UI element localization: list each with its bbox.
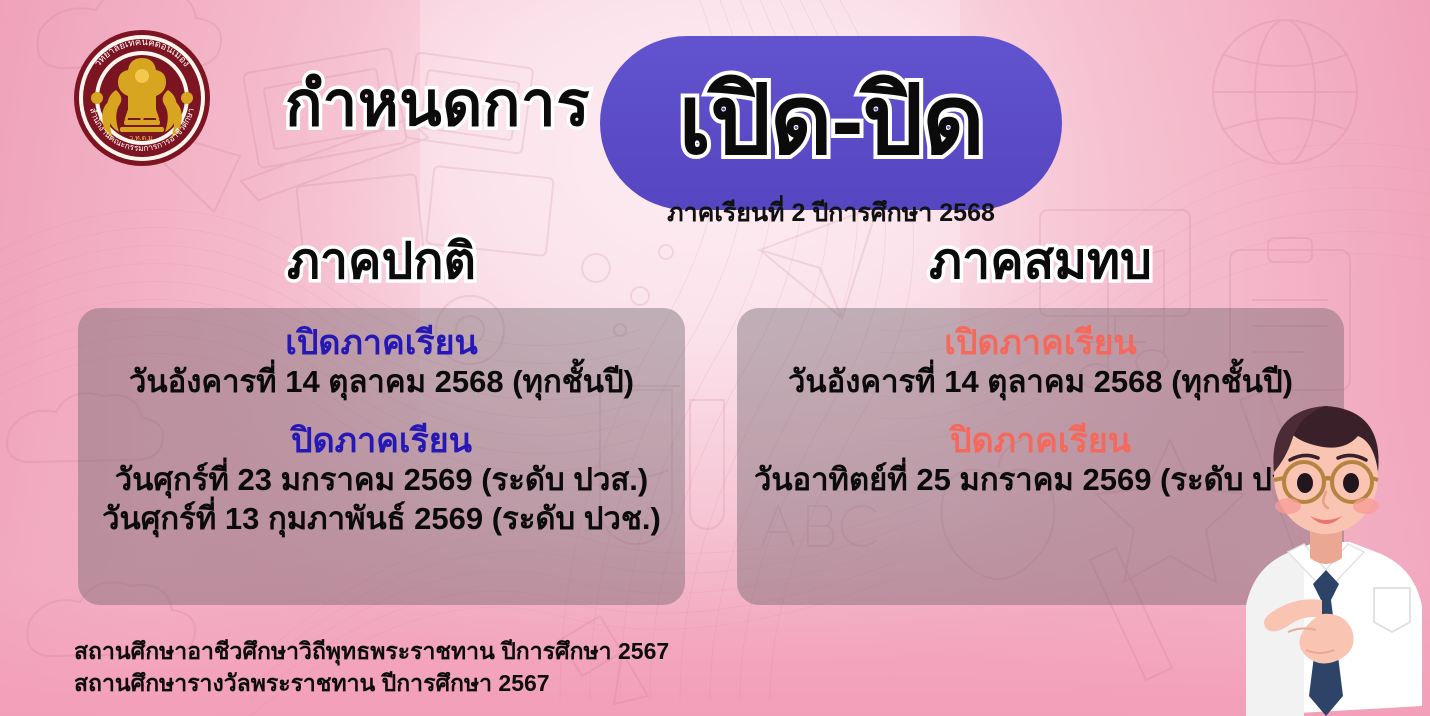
open-term-label-regular: เปิดภาคเรียน xyxy=(285,324,478,363)
section-heading-supplementary: ภาคสมทบ xyxy=(737,236,1344,286)
announcement-banner: ว.ท.ด.ม. วิทยาลัยเทคนิคดอนเมือง สำนักงาน… xyxy=(0,0,1430,716)
footer-line-2: สถานศึกษารางวัลพระราชทาน ปีการศึกษา 2567 xyxy=(74,667,669,700)
header-badge-label: เปิด-ปิด xyxy=(678,73,983,169)
header-badge: เปิด-ปิด xyxy=(600,36,1062,210)
header-subtitle: ภาคเรียนที่ 2 ปีการศึกษา 2568 xyxy=(600,193,1062,233)
close-term-label-regular: ปิดภาคเรียน xyxy=(291,422,472,461)
teacher-pointing-illustration xyxy=(1226,356,1430,716)
schedule-card-regular: เปิดภาคเรียน วันอังคารที่ 14 ตุลาคม 2568… xyxy=(78,308,685,605)
open-term-date-supplementary: วันอังคารที่ 14 ตุลาคม 2568 (ทุกชั้นปี) xyxy=(788,363,1293,402)
close-term-date-regular-2: วันศุกร์ที่ 13 กุมภาพันธ์ 2569 (ระดับ ปว… xyxy=(102,500,661,539)
close-term-label-supplementary: ปิดภาคเรียน xyxy=(950,422,1131,461)
footer-awards: สถานศึกษาอาชีวศึกษาวิถีพุทธพระราชทาน ปีก… xyxy=(74,635,669,700)
open-term-date-regular: วันอังคารที่ 14 ตุลาคม 2568 (ทุกชั้นปี) xyxy=(129,363,634,402)
close-term-date-regular-1: วันศุกร์ที่ 23 มกราคม 2569 (ระดับ ปวส.) xyxy=(115,461,648,500)
section-heading-regular: ภาคปกติ xyxy=(78,236,685,286)
open-term-label-supplementary: เปิดภาคเรียน xyxy=(944,324,1137,363)
header-lead-word: กำหนดการ xyxy=(285,74,590,136)
header: กำหนดการ เปิด-ปิด xyxy=(0,18,1430,198)
footer-line-1: สถานศึกษาอาชีวศึกษาวิถีพุทธพระราชทาน ปีก… xyxy=(74,635,669,668)
